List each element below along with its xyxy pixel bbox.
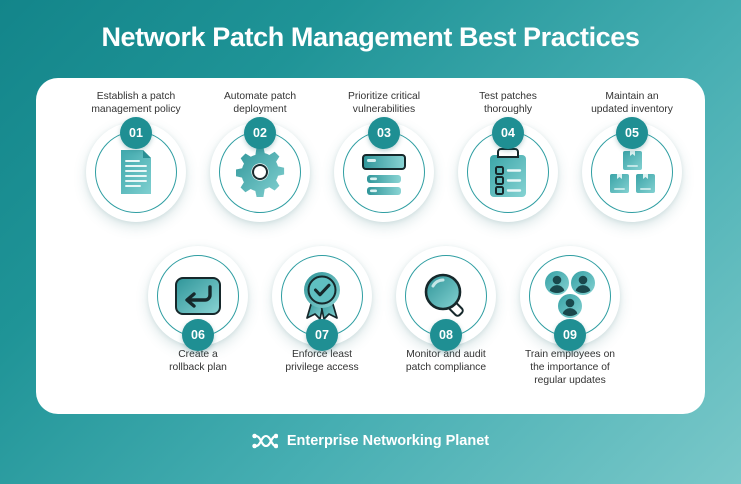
practice-label: Create arollback plan [136,348,260,374]
step-number-badge: 04 [492,117,524,149]
step-number-badge: 05 [616,117,648,149]
magnifier-icon [418,268,474,324]
infographic-card: Establish a patchmanagement policy01Auto… [36,78,705,414]
inventory-boxes-icon [604,144,660,200]
users-group-icon [542,268,598,324]
page-title: Network Patch Management Best Practices [0,22,741,53]
practice-icon-circle: 07 [272,246,372,346]
practice-icon-circle: 02 [210,122,310,222]
footer-branding: Enterprise Networking Planet [0,432,741,450]
network-nodes-logo-icon [252,432,278,450]
step-number-badge: 03 [368,117,400,149]
step-number-badge: 09 [554,319,586,351]
step-number-badge: 08 [430,319,462,351]
practice-label: Enforce leastprivilege access [260,348,384,374]
practice-label: Prioritize criticalvulnerabilities [322,90,446,116]
practice-label: Maintain anupdated inventory [570,90,694,116]
gear-icon [232,144,288,200]
rollback-arrow-icon [170,268,226,324]
practice-label: Train employees onthe importance ofregul… [508,348,632,388]
practice-icon-circle: 01 [86,122,186,222]
practice-icon-circle: 06 [148,246,248,346]
award-ribbon-check-icon [294,268,350,324]
practice-label: Automate patchdeployment [198,90,322,116]
practice-label: Establish a patchmanagement policy [74,90,198,116]
practice-label: Test patchesthoroughly [446,90,570,116]
document-icon [108,144,164,200]
priority-list-icon [356,144,412,200]
practice-label: Monitor and auditpatch compliance [384,348,508,374]
step-number-badge: 02 [244,117,276,149]
row-bottom: Create arollback plan06Enforce leastpriv… [36,246,705,408]
practice-icon-circle: 08 [396,246,496,346]
practice-icon-circle: 05 [582,122,682,222]
step-number-badge: 01 [120,117,152,149]
clipboard-checklist-icon [480,144,536,200]
brand-name: Enterprise Networking Planet [287,433,489,449]
row-top: Establish a patchmanagement policy01Auto… [36,90,705,250]
step-number-badge: 07 [306,319,338,351]
practice-icon-circle: 03 [334,122,434,222]
practice-icon-circle: 09 [520,246,620,346]
step-number-badge: 06 [182,319,214,351]
practice-icon-circle: 04 [458,122,558,222]
